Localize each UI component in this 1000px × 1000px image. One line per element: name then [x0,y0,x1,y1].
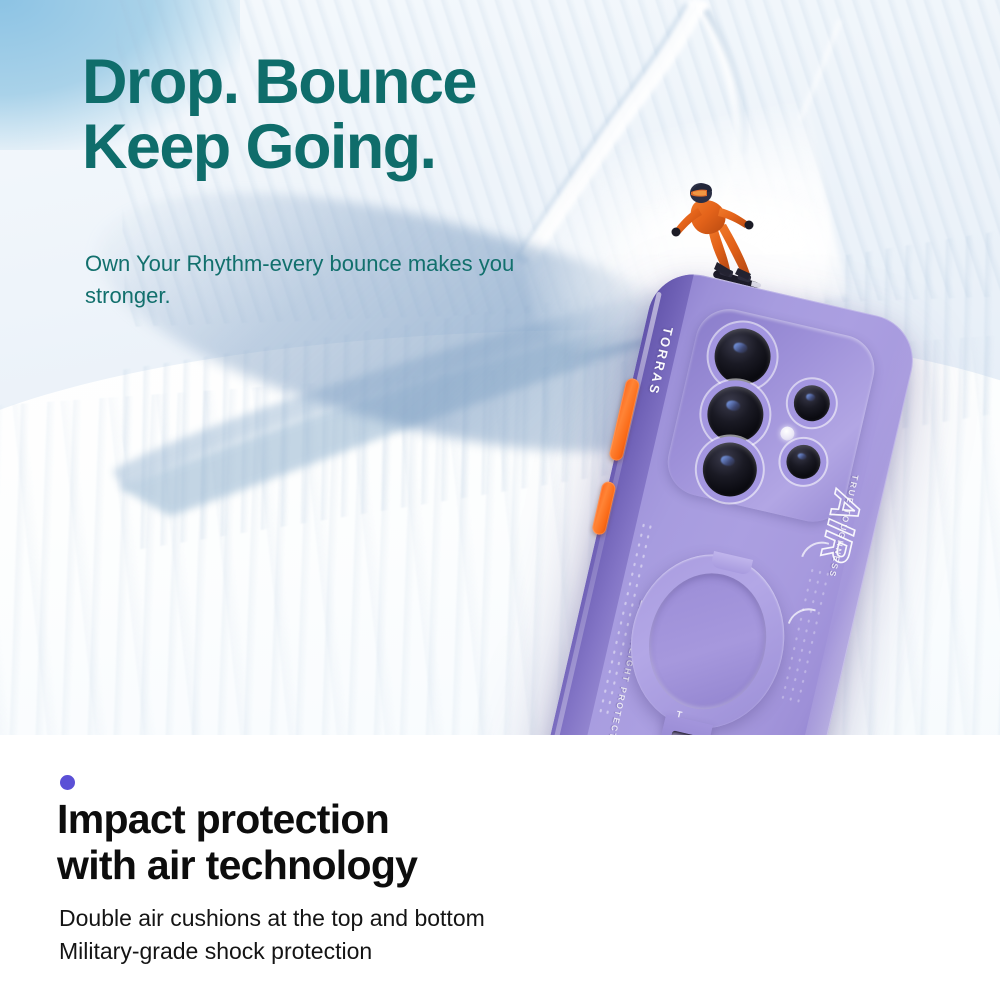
lens-glint [805,393,816,401]
feature-title: Impact protection with air technology [57,797,657,889]
lens-glint [732,341,748,354]
camera-lens-main [709,323,776,390]
camera-lens-wide [702,381,769,448]
lens-glint [725,399,741,412]
camera-flash [779,425,796,442]
lens-glint [797,452,807,460]
bullet-dot-icon [60,775,75,790]
camera-lens-small-1 [790,382,833,425]
camera-lens-tele [697,437,762,502]
ring-inner [636,562,780,722]
feature-subtitle: Double air cushions at the top and botto… [59,902,699,967]
lens-glint [720,454,736,467]
ring-notch [710,551,753,576]
hero-subcopy: Own Your Rhythm-every bounce makes you s… [85,248,525,312]
product-marketing-page: Drop. Bounce Keep Going. Own Your Rhythm… [0,0,1000,1000]
feature-panel: Impact protection with air technology Do… [0,735,1000,1000]
hero-headline: Drop. Bounce Keep Going. [82,50,642,180]
camera-lens-small-2 [783,441,824,482]
